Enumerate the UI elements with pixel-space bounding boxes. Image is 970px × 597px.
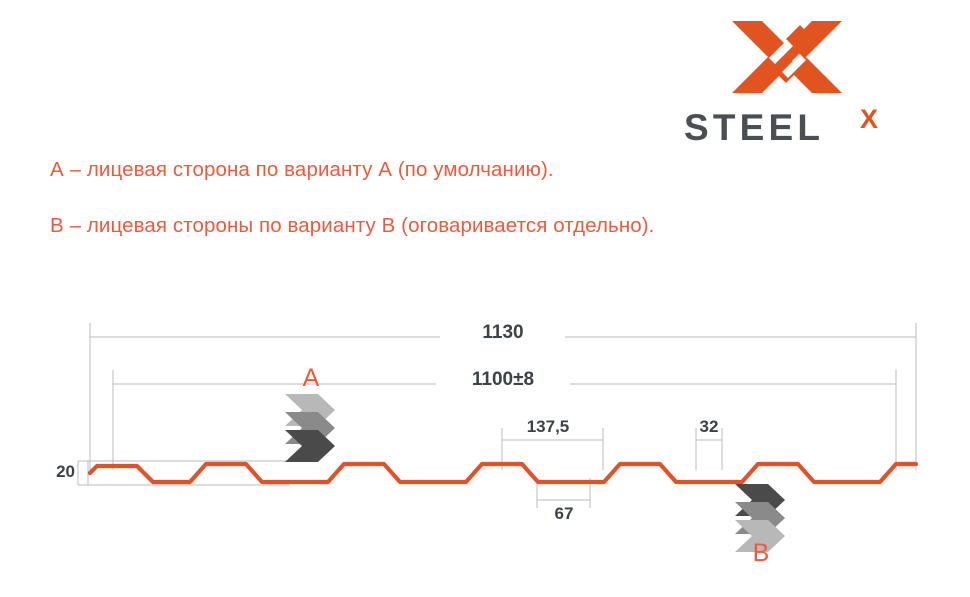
dimension-label-rib-top-width: 32	[679, 417, 739, 437]
page-root: STEEL X А – лицевая сторона по варианту …	[0, 0, 970, 597]
dimension-label-effective-width: 1100±8	[438, 369, 568, 391]
dimension-lines-group	[78, 323, 916, 508]
marker-b-letter: В	[733, 539, 789, 568]
dimension-label-rib-height: 20	[43, 462, 75, 482]
sheet-profile-polyline	[90, 464, 916, 482]
dimension-label-valley-width: 67	[519, 504, 609, 524]
dimension-label-overall-width: 1130	[443, 322, 563, 344]
dimension-label-rib-pitch: 137,5	[493, 417, 603, 437]
marker-a-chevrons	[285, 394, 335, 462]
profile-technical-drawing	[0, 0, 970, 597]
marker-a-letter: А	[283, 364, 339, 393]
